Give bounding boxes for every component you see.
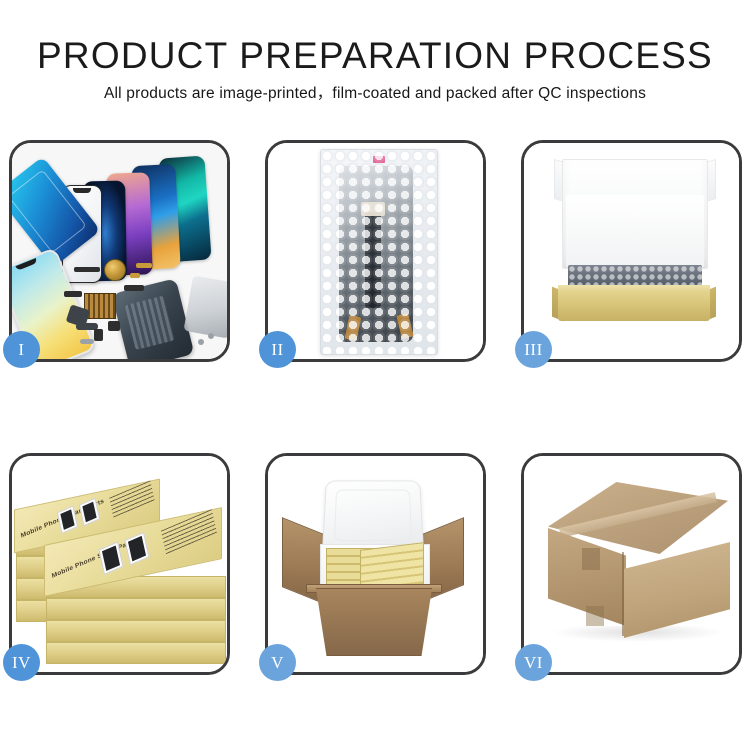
box-slab-fr-3 [46,620,226,642]
step-badge-1: I [3,331,40,368]
gold-bracket [130,273,140,278]
step-image-1 [12,143,227,359]
box-label-spec-lines-front [161,509,217,555]
step-panel-5: V [265,453,486,675]
box-label-spec-lines-back [109,480,155,518]
metal-bracket [80,339,94,344]
step-image-5 [268,456,483,672]
box-label-text-front: Mobile Phone Spare Parts [51,538,136,580]
lcd-connector [361,202,385,216]
step-badge-6: VI [515,644,552,681]
step-image-4: Mobile Phone Spare Parts Mobile Phone Sp… [12,456,227,672]
camera-module [108,321,120,331]
page-title: PRODUCT PREPARATION PROCESS [0,34,750,78]
carton-corner-seam [622,552,624,636]
white-foam-pad [566,195,704,267]
bubble-wrap-bag [320,149,438,355]
antenna-flex [64,291,82,297]
lcd-flex-cable [365,212,381,308]
gold-contact-strip [136,263,152,268]
carton-right-face [624,542,730,638]
box-slab-fr-2 [46,598,226,620]
earpiece-speaker [74,267,100,272]
screw-a [198,339,204,345]
box-label-window-d [124,532,149,566]
power-flex [124,285,144,291]
page-subtitle: All products are image-printed，film-coat… [0,84,750,104]
step-badge-5: V [259,644,296,681]
process-steps-grid: I II [9,140,741,681]
step-panel-4: Mobile Phone Spare Parts Mobile Phone Sp… [9,453,230,675]
header: PRODUCT PREPARATION PROCESS All products… [0,34,750,104]
vibration-motor [104,259,126,281]
foam-box-lid [322,481,424,553]
carton-tab-upper [582,548,600,570]
screw-b [208,333,214,339]
step-panel-6: VI [521,453,742,675]
carton-front-panel [308,588,440,656]
step-image-3 [524,143,739,359]
step-panel-3: III [521,140,742,362]
step-image-6 [524,456,739,672]
pink-tape-marker [373,156,385,163]
carton-tab-lower [586,606,604,626]
yellow-box-tray [558,291,710,321]
step-panel-2: II [265,140,486,362]
step-badge-2: II [259,331,296,368]
step-image-2 [268,143,483,359]
product-preparation-process-infographic: PRODUCT PREPARATION PROCESS All products… [0,0,750,750]
sim-tray [94,329,103,341]
step-badge-4: IV [3,644,40,681]
box-slab-fr-4 [46,642,226,664]
step-panel-1: I [9,140,230,362]
step-badge-3: III [515,331,552,368]
